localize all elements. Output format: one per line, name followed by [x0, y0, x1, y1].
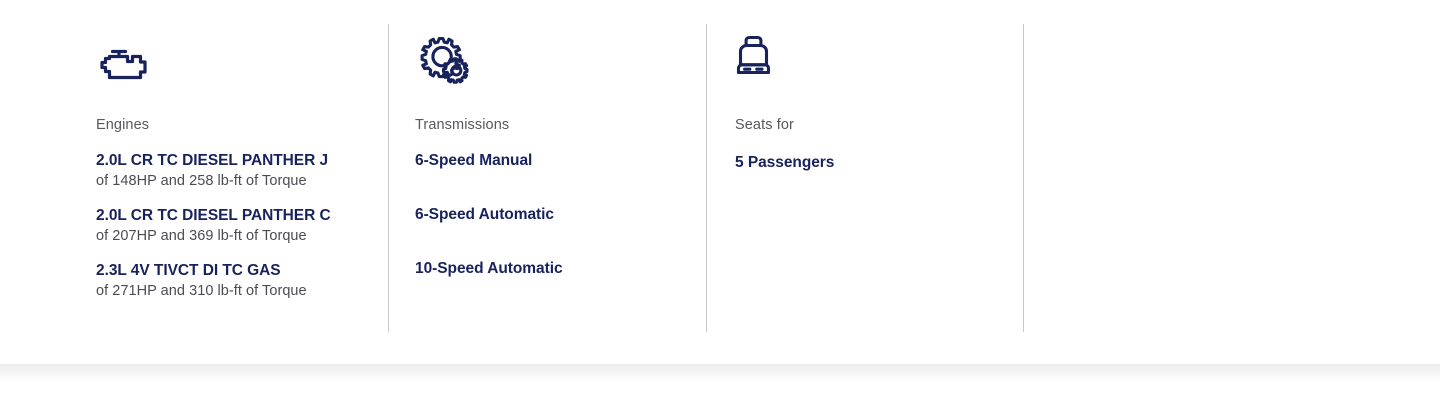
spec-item: 10-Speed Automatic [415, 258, 705, 279]
spec-column-engines: Engines 2.0L CR TC DIESEL PANTHER J of 1… [96, 24, 388, 332]
engine-icon [96, 34, 152, 86]
spec-item: 6-Speed Automatic [415, 204, 705, 225]
spec-item-title: 2.0L CR TC DIESEL PANTHER J [96, 150, 388, 171]
vehicle-specs-panel: Engines 2.0L CR TC DIESEL PANTHER J of 1… [0, 0, 1440, 364]
spec-column-label: Transmissions [415, 116, 509, 134]
spec-column-label: Seats for [735, 116, 794, 134]
section-bottom-band [0, 364, 1440, 408]
spec-column-seats: Seats for 5 Passengers [735, 24, 1023, 332]
column-divider [388, 24, 389, 332]
spec-item-title: 5 Passengers [735, 152, 1023, 173]
column-divider [1023, 24, 1024, 332]
spec-item: 2.0L CR TC DIESEL PANTHER J of 148HP and… [96, 150, 388, 191]
car-seat-icon [735, 34, 791, 86]
spec-item-list: 6-Speed Manual 6-Speed Automatic 10-Spee… [415, 150, 705, 279]
spec-item-subtitle: of 271HP and 310 lb-ft of Torque [96, 282, 388, 301]
spec-item-subtitle: of 207HP and 369 lb-ft of Torque [96, 227, 388, 246]
spec-column-label: Engines [96, 116, 149, 134]
spec-column-transmissions: Transmissions 6-Speed Manual 6-Speed Aut… [415, 24, 705, 332]
column-divider [706, 24, 707, 332]
spec-item: 2.0L CR TC DIESEL PANTHER C of 207HP and… [96, 205, 388, 246]
spec-item-title: 2.0L CR TC DIESEL PANTHER C [96, 205, 388, 226]
spec-item-list: 2.0L CR TC DIESEL PANTHER J of 148HP and… [96, 150, 388, 301]
spec-item: 6-Speed Manual [415, 150, 705, 171]
spec-item-title: 6-Speed Manual [415, 150, 705, 171]
spec-item-title: 10-Speed Automatic [415, 258, 705, 279]
spec-item-subtitle: of 148HP and 258 lb-ft of Torque [96, 172, 388, 191]
spec-item: 2.3L 4V TIVCT DI TC GAS of 271HP and 310… [96, 260, 388, 301]
spec-item: 5 Passengers [735, 152, 1023, 173]
spec-item-list: 5 Passengers [735, 152, 1023, 173]
gears-icon [415, 34, 471, 86]
spec-item-title: 2.3L 4V TIVCT DI TC GAS [96, 260, 388, 281]
spec-item-title: 6-Speed Automatic [415, 204, 705, 225]
